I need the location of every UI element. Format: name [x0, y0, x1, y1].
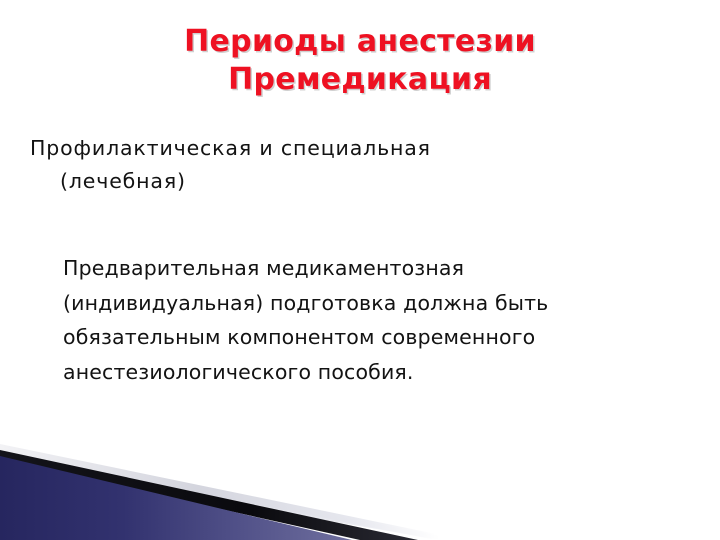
paragraph-1-line-2: (лечебная)	[30, 165, 470, 198]
paragraph-2-line-4: анестезиологического пособия.	[63, 355, 665, 389]
band-stripe-silver-wide	[0, 452, 440, 540]
paragraph-2-line-3: обязательным компонентом современного	[63, 320, 665, 354]
slide-body: Профилактическая и специальная (лечебная…	[0, 132, 720, 389]
slide-title: Периоды анестезии Премедикация	[0, 26, 720, 95]
paragraph-2-line-2: (индивидуальная) подготовка должна быть	[63, 286, 665, 320]
band-stripe-silver	[0, 444, 436, 540]
band-wedge-navy	[0, 456, 352, 540]
bottom-diagonal-band-graphic	[0, 430, 720, 540]
band-stripe-black	[0, 450, 418, 540]
presentation-slide: Периоды анестезии Премедикация Профилакт…	[0, 0, 720, 540]
body-paragraph-1: Профилактическая и специальная (лечебная…	[0, 132, 720, 198]
paragraph-1-line-1: Профилактическая и специальная	[30, 132, 470, 165]
body-paragraph-2: Предварительная медикаментозная (индивид…	[0, 251, 720, 389]
title-line-2: Премедикация	[0, 64, 720, 96]
paragraph-2-line-1: Предварительная медикаментозная	[63, 251, 665, 285]
title-line-1: Периоды анестезии	[0, 26, 720, 58]
